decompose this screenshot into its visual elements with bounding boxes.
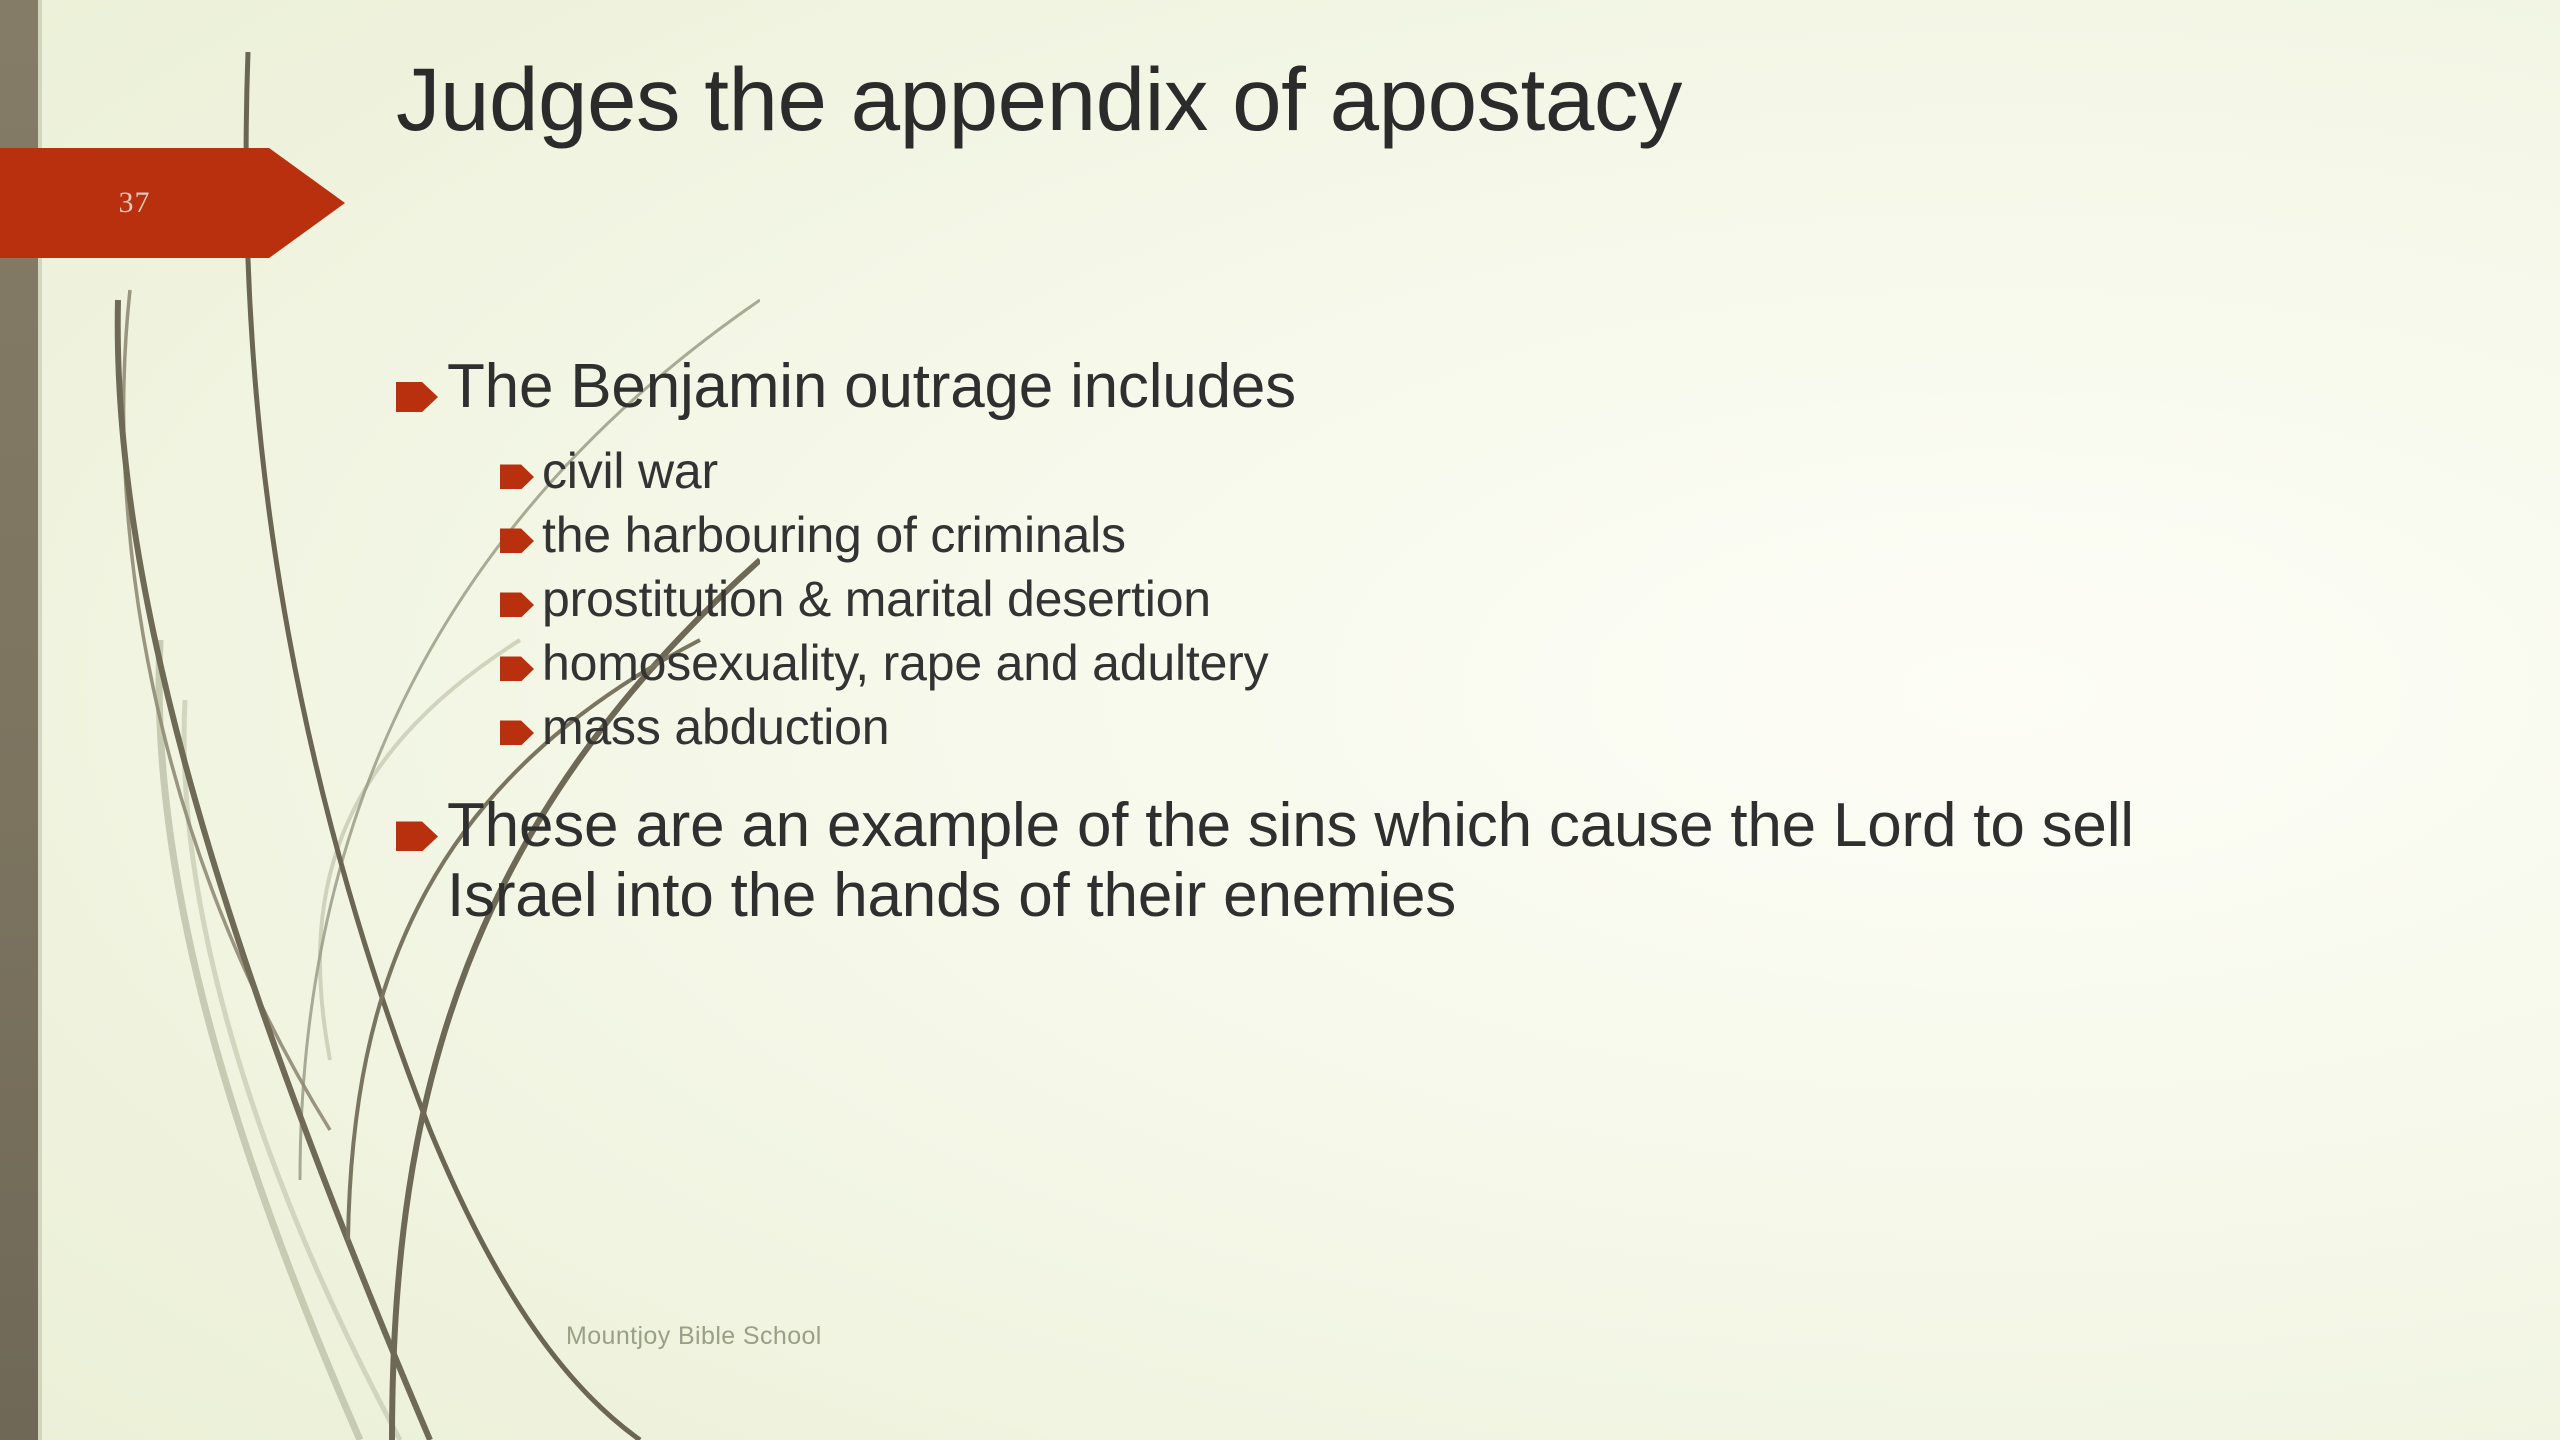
- bullet-text: civil war: [542, 443, 718, 499]
- bullet-text: The Benjamin outrage includes: [447, 352, 1296, 421]
- bullet-level1: These are an example of the sins which c…: [396, 791, 2296, 930]
- bullet-text: These are an example of the sins which c…: [447, 791, 2187, 930]
- bullet-arrow-icon: [500, 656, 534, 681]
- bullet-arrow-icon: [500, 592, 534, 617]
- presentation-slide: 37 Judges the appendix of apostacy The B…: [0, 0, 2560, 1440]
- slide-body: The Benjamin outrage includes civil war …: [396, 352, 2296, 936]
- bullet-level2: prostitution & marital desertion: [500, 571, 2296, 627]
- bullet-arrow-icon: [396, 382, 438, 412]
- bullet-text: prostitution & marital desertion: [542, 571, 1211, 627]
- bullet-level2: the harbouring of criminals: [500, 507, 2296, 563]
- bullet-arrow-icon: [396, 821, 438, 851]
- bullet-arrow-icon: [500, 720, 534, 745]
- bullet-level2: homosexuality, rape and adultery: [500, 635, 2296, 691]
- slide-number-badge: 37: [0, 148, 345, 258]
- bullet-arrow-icon: [500, 528, 534, 553]
- bullet-level2: mass abduction: [500, 699, 2296, 755]
- bullet-text: mass abduction: [542, 699, 889, 755]
- slide-footer: Mountjoy Bible School: [566, 1322, 822, 1351]
- bullet-arrow-icon: [500, 464, 534, 489]
- spacer: [396, 763, 2296, 791]
- bullet-level2: civil war: [500, 443, 2296, 499]
- slide-number: 37: [0, 148, 269, 258]
- bullet-text: the harbouring of criminals: [542, 507, 1126, 563]
- slide-title: Judges the appendix of apostacy: [396, 52, 2436, 146]
- spacer: [396, 427, 2296, 443]
- bullet-level1: The Benjamin outrage includes: [396, 352, 2296, 421]
- bullet-text: homosexuality, rape and adultery: [542, 635, 1268, 691]
